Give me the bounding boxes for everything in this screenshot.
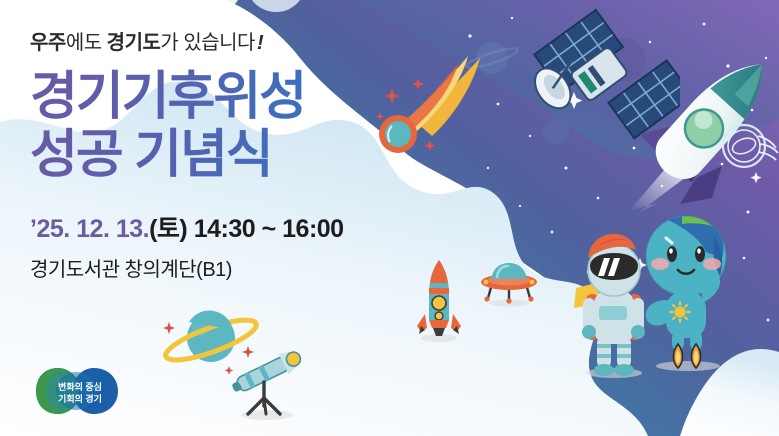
ufo-icon bbox=[478, 262, 540, 307]
tagline-bold-1: 우주 bbox=[30, 32, 66, 54]
eye-right bbox=[695, 246, 705, 262]
sun-emblem bbox=[670, 302, 690, 322]
tagline-normal-1: 에도 bbox=[66, 32, 107, 54]
event-datetime: ’25. 12. 13.(토) 14:30 ~ 16:00 bbox=[30, 209, 450, 245]
event-day-of-week: (토) bbox=[149, 215, 187, 243]
event-date: ’25. 12. 13. bbox=[30, 215, 149, 243]
tagline-bold-2: 경기도 bbox=[107, 32, 161, 54]
event-poster: 우주에도 경기도가 있습니다! 경기기후위성 성공 기념식 ’25. 12. 1… bbox=[0, 0, 779, 436]
page-title-line-2: 성공 기념식 bbox=[30, 127, 450, 183]
rocket-icon bbox=[630, 38, 779, 213]
logo-line-2: 기회의 경기 bbox=[58, 393, 102, 404]
event-time-range: 14:30 ~ 16:00 bbox=[194, 215, 344, 243]
logo-line-1: 변화의 중심 bbox=[58, 381, 102, 392]
tagline-normal-2: 가 있습니다 bbox=[160, 32, 255, 54]
tagline: 우주에도 경기도가 있습니다! bbox=[30, 26, 450, 55]
cheek-right bbox=[703, 258, 721, 270]
cheek-left bbox=[651, 258, 669, 270]
gyeonggi-brand-logo: 변화의 중심 기회의 경기 bbox=[32, 362, 128, 420]
page-title-line-1: 경기기후위성 bbox=[30, 69, 450, 125]
eye-left bbox=[667, 246, 677, 262]
event-venue: 경기도서관 창의계단(B1) bbox=[30, 253, 450, 282]
tagline-exclamation: ! bbox=[255, 32, 263, 54]
poster-text-block: 우주에도 경기도가 있습니다! 경기기후위성 성공 기념식 ’25. 12. 1… bbox=[30, 26, 450, 282]
earth-mascot bbox=[630, 212, 742, 372]
telescope-icon bbox=[228, 348, 306, 420]
